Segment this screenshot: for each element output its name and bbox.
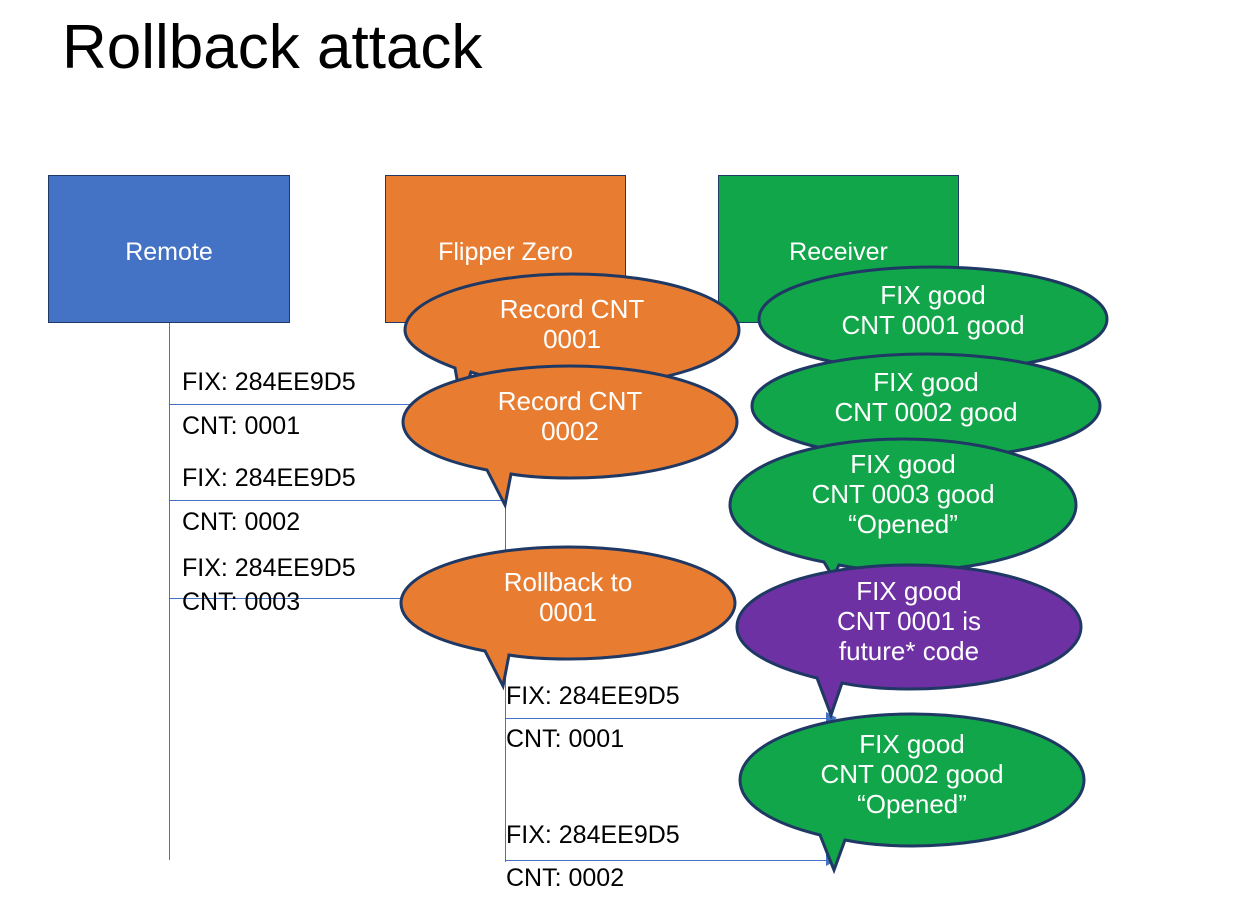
callout-shape: [728, 437, 1078, 577]
actor-label-flipper: Flipper Zero: [386, 238, 625, 267]
callout-shape: [401, 364, 739, 509]
message-2-fix: FIX: 284EE9D5: [182, 466, 356, 491]
message-4-cnt: CNT: 0001: [506, 727, 624, 752]
callout-flipper-record-0002[interactable]: Record CNT 0002: [401, 364, 739, 509]
callout-receiver-cnt-0002-opened[interactable]: FIX good CNT 0002 good “Opened”: [738, 712, 1086, 872]
actor-label-receiver: Receiver: [719, 238, 958, 267]
message-5-cnt: CNT: 0002: [506, 866, 624, 891]
message-5-fix: FIX: 284EE9D5: [506, 823, 680, 848]
callout-shape: [399, 545, 737, 690]
callout-shape: [738, 712, 1086, 872]
page-title: Rollback attack: [62, 14, 482, 82]
message-3-cnt: CNT: 0003: [182, 590, 300, 615]
callout-shape: [735, 563, 1083, 718]
actor-box-remote[interactable]: Remote: [48, 175, 290, 323]
message-1-cnt: CNT: 0001: [182, 414, 300, 439]
message-3-fix: FIX: 284EE9D5: [182, 556, 356, 581]
message-2-cnt: CNT: 0002: [182, 510, 300, 535]
callout-flipper-rollback-0001[interactable]: Rollback to 0001: [399, 545, 737, 690]
callout-receiver-cnt-0001-future[interactable]: FIX good CNT 0001 is future* code: [735, 563, 1083, 718]
actor-label-remote: Remote: [49, 238, 289, 267]
callout-receiver-cnt-0003-opened[interactable]: FIX good CNT 0003 good “Opened”: [728, 437, 1078, 577]
message-1-fix: FIX: 284EE9D5: [182, 370, 356, 395]
slide-canvas: Rollback attack FIX: 284EE9D5 CNT: 0001 …: [0, 0, 1233, 898]
